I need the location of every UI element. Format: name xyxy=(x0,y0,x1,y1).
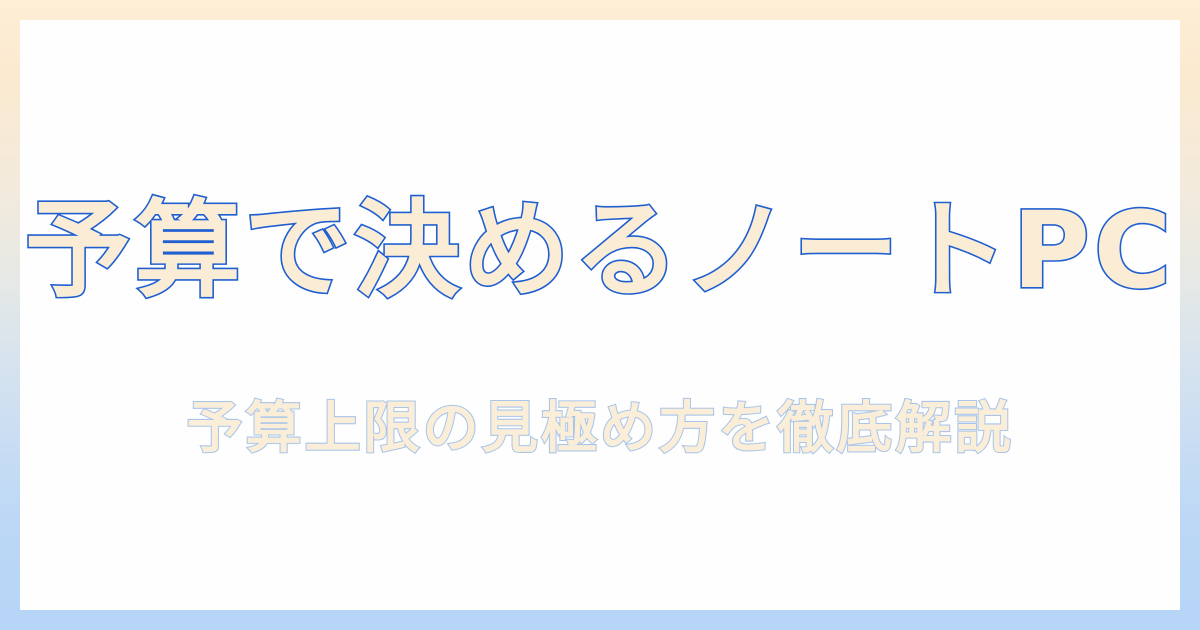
page-title: 予算で決めるノートPC xyxy=(25,198,1175,304)
hero-content: 予算で決めるノートPC 予算上限の見極め方を徹底解説 xyxy=(20,20,1180,610)
page-subtitle-container: 予算上限の見極め方を徹底解説 xyxy=(20,401,1180,457)
page-title-container: 予算で決めるノートPC xyxy=(20,198,1180,304)
title-card-canvas: 予算で決めるノートPC 予算上限の見極め方を徹底解説 xyxy=(0,0,1200,630)
white-content-card: 予算で決めるノートPC 予算上限の見極め方を徹底解説 xyxy=(20,20,1180,610)
page-subtitle: 予算上限の見極め方を徹底解説 xyxy=(186,401,1013,457)
